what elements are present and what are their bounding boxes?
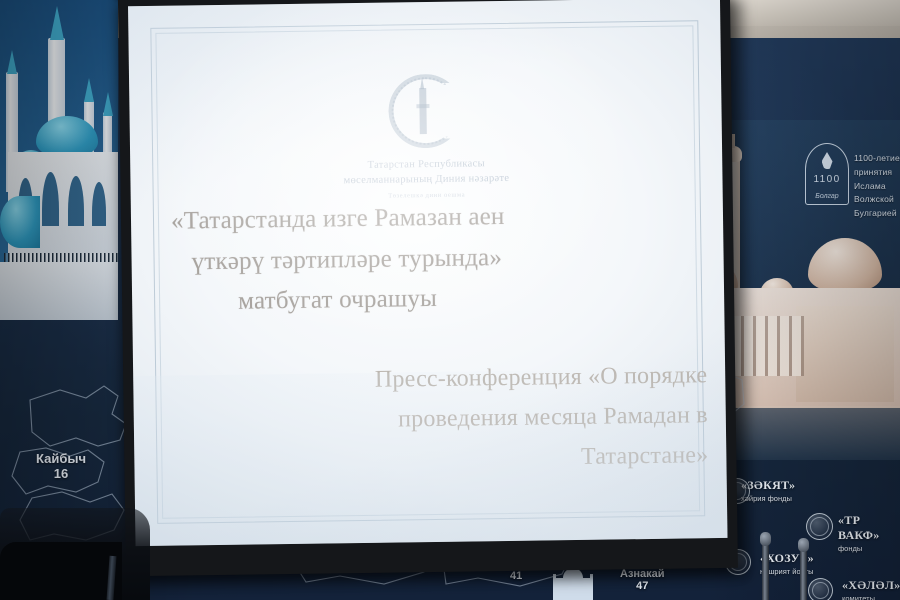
- russian-title-line-3: Татарстане»: [170, 436, 711, 483]
- microphone-right: [800, 548, 807, 600]
- microphone-left: [762, 542, 769, 600]
- dum-rt-emblem-icon: [388, 74, 463, 149]
- photo-scene: 1100 Болгар 1100-летие принятия Ислама В…: [0, 0, 900, 600]
- slide-content: Татарстан Республикасы мөселманнарының Д…: [128, 0, 727, 546]
- slide-title-tatar: «Татарстанда изге Рамазан аен үткәрү тәр…: [167, 194, 709, 323]
- screen-surface: Татарстан Республикасы мөселманнарының Д…: [128, 0, 727, 546]
- screen-frame: Татарстан Республикасы мөселманнарының Д…: [118, 0, 738, 576]
- organization-name: Татарстан Республикасы мөселманнарының Д…: [130, 153, 722, 192]
- projector-screen: Digis Татарстан Республикасы м: [118, 0, 746, 588]
- slide-title-russian: Пресс-конференция «О порядке проведения …: [169, 356, 711, 483]
- tatar-title-line-3: матбугат очрашуы: [168, 275, 709, 323]
- foreground-equipment-shadow: [0, 542, 122, 600]
- russian-title-line-2: проведения месяца Рамадан в: [170, 396, 711, 443]
